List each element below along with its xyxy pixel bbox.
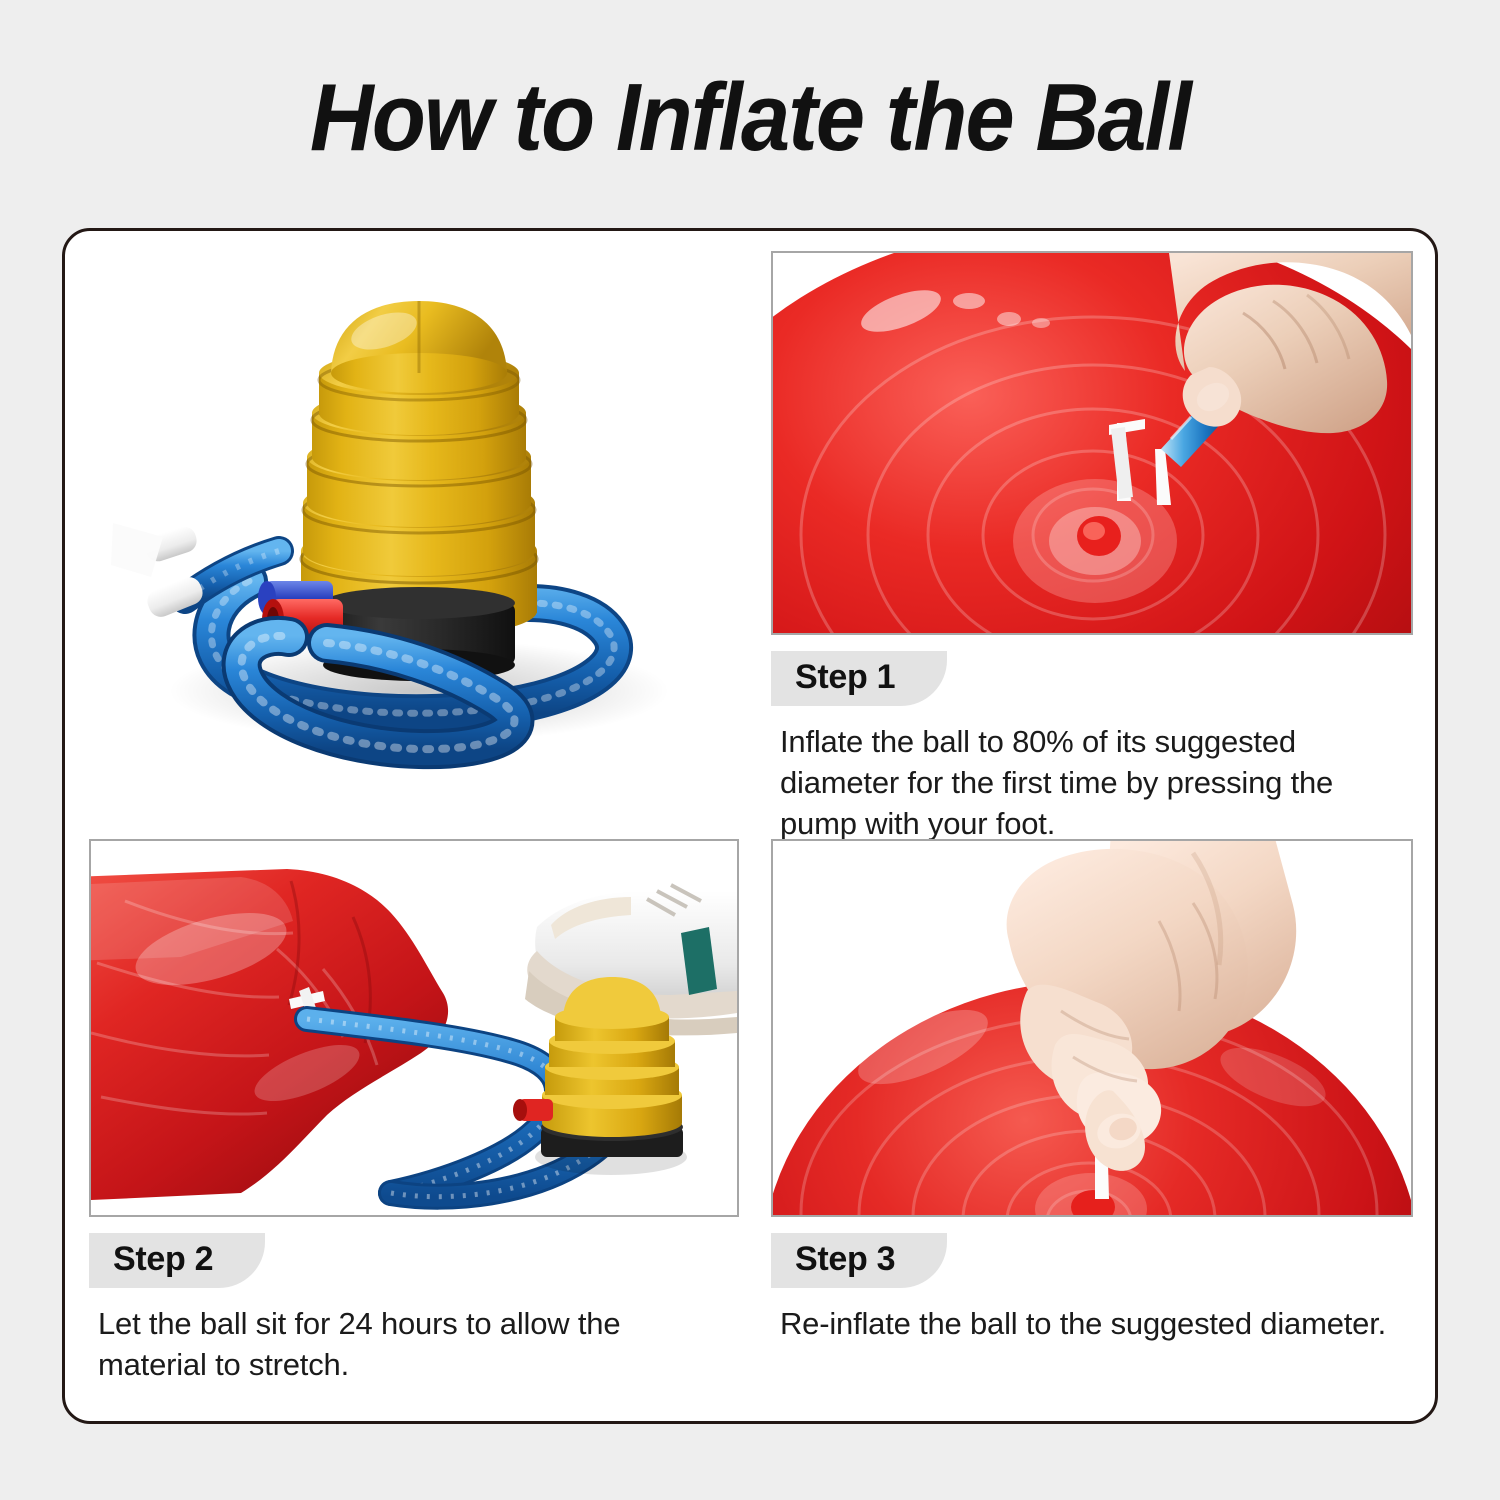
step-3-text: Re-inflate the ball to the suggested dia… xyxy=(771,1304,1389,1345)
page-title: How to Inflate the Ball xyxy=(60,68,1440,169)
step-3-panel: Step 3 Re-inflate the ball to the sugges… xyxy=(771,839,1413,1405)
hand-removing-white-plug-from-inflated-ball-art xyxy=(773,841,1411,1215)
step-3-photo xyxy=(771,839,1413,1217)
step-1-text: Inflate the ball to 80% of its suggested… xyxy=(771,722,1389,845)
hose-nozzles xyxy=(111,523,279,620)
instructions-card: Step 1 Inflate the ball to 80% of its su… xyxy=(62,228,1438,1424)
deflated-red-ball-connected-to-pump-with-shoe-art xyxy=(91,841,737,1215)
step-3-badge: Step 3 xyxy=(771,1233,947,1288)
pump-product-panel xyxy=(89,251,739,811)
step-2-badge: Step 2 xyxy=(89,1233,265,1288)
step-1-panel: Step 1 Inflate the ball to 80% of its su… xyxy=(771,251,1413,839)
step-1-badge: Step 1 xyxy=(771,651,947,706)
infographic-page: How to Inflate the Ball xyxy=(0,0,1500,1500)
pump-bellows xyxy=(301,301,537,637)
hand-inserting-nozzle-into-red-ball-valve-art xyxy=(773,253,1411,633)
step-1-photo xyxy=(771,251,1413,635)
foot-pump-illustration xyxy=(89,251,739,811)
step-2-photo xyxy=(89,839,739,1217)
step-2-panel: Step 2 Let the ball sit for 24 hours to … xyxy=(89,839,739,1405)
step-2-text: Let the ball sit for 24 hours to allow t… xyxy=(89,1304,707,1386)
